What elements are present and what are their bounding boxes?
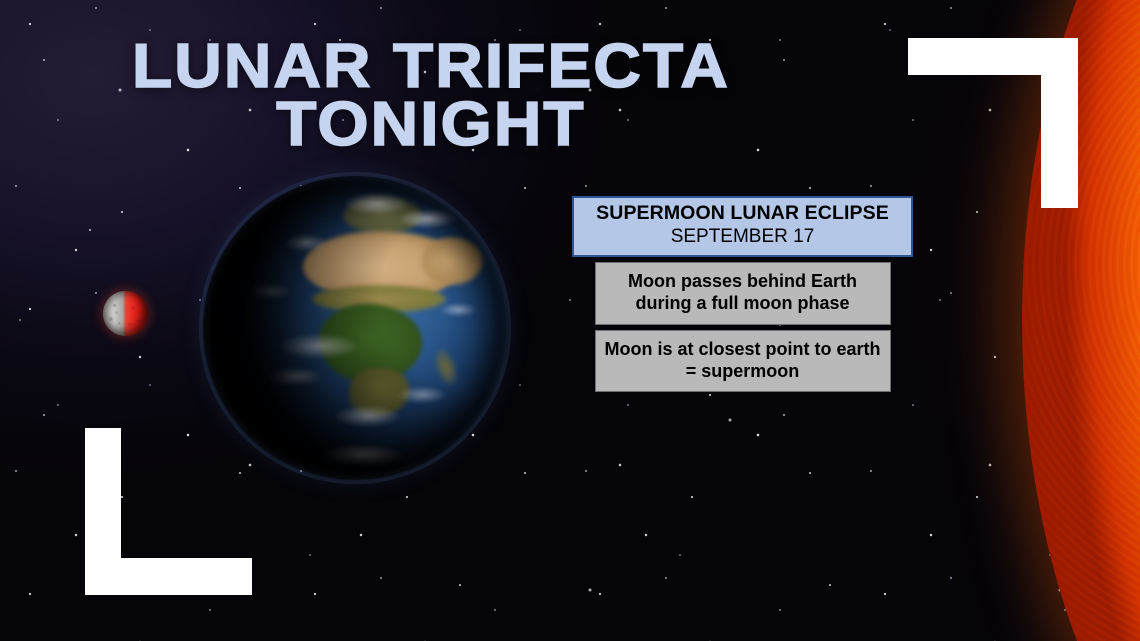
page-title: LUNAR TRIFECTA TONIGHT xyxy=(60,38,802,153)
info-panel-title: SUPERMOON LUNAR ECLIPSE xyxy=(580,203,905,225)
info-panel: SUPERMOON LUNAR ECLIPSE SEPTEMBER 17 Moo… xyxy=(572,196,913,392)
fact-box-1: Moon passes behind Earth during a full m… xyxy=(595,262,891,325)
news-graphic-slide: LUNAR TRIFECTA TONIGHT SUPERMOON LUNAR E… xyxy=(0,0,1140,641)
corner-bracket-top-right-vertical xyxy=(1041,38,1078,208)
fact-box-2: Moon is at closest point to earth = supe… xyxy=(595,330,891,393)
info-panel-header: SUPERMOON LUNAR ECLIPSE SEPTEMBER 17 xyxy=(572,196,913,257)
headline-line-1: LUNAR TRIFECTA xyxy=(60,38,802,96)
info-panel-date: SEPTEMBER 17 xyxy=(580,226,905,248)
corner-bracket-bottom-left-horizontal xyxy=(85,558,252,595)
headline-line-2: TONIGHT xyxy=(60,96,802,154)
